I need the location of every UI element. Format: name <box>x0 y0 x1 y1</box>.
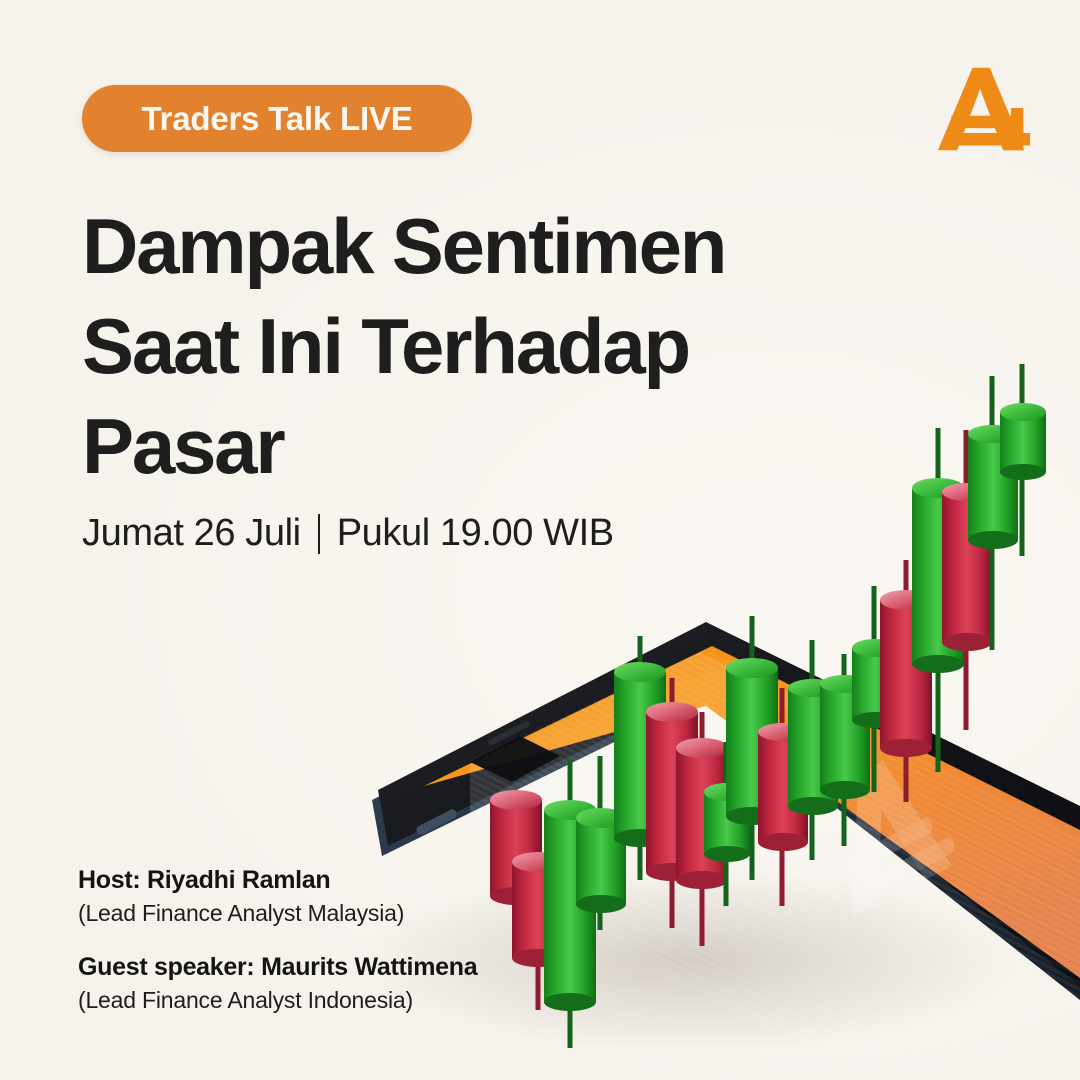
promo-poster: Traders Talk LIVE Dampak Sentimen Saat I… <box>0 0 1080 1080</box>
candle-5-up <box>614 636 666 880</box>
candle-13-up <box>852 586 898 792</box>
schedule-separator <box>318 514 320 554</box>
live-badge-label: Traders Talk LIVE <box>141 100 412 138</box>
headline-line-1: Dampak Sentimen <box>82 196 842 296</box>
credit-host-name: Host: Riyadhi Ramlan <box>78 866 477 895</box>
credit-host: Host: Riyadhi Ramlan (Lead Finance Analy… <box>78 866 477 927</box>
phone-bezel <box>378 622 1080 986</box>
alpha-a-logo-icon <box>936 62 1032 156</box>
schedule-time: Pukul 19.00 WIB <box>337 512 614 555</box>
candle-8-up <box>704 742 750 906</box>
candle-6-down <box>646 678 698 928</box>
headline-line-3: Pasar <box>82 396 842 496</box>
phone-earpiece <box>487 720 531 746</box>
candle-2-down <box>512 846 564 1010</box>
credit-guest-name: Guest speaker: Maurits Wattimena <box>78 953 477 982</box>
schedule-line: Jumat 26 Juli Pukul 19.00 WIB <box>82 512 614 555</box>
phone-screen <box>424 646 1080 978</box>
page-title: Dampak Sentimen Saat Ini Terhadap Pasar <box>82 196 842 496</box>
candle-3-up <box>544 760 596 1048</box>
credit-guest-role: (Lead Finance Analyst Indonesia) <box>78 987 477 1014</box>
candle-10-down <box>758 688 808 906</box>
candle-11-up <box>788 640 838 860</box>
candle-14-down <box>880 560 932 802</box>
candle-16-down <box>942 430 992 730</box>
headline-line-2: Saat Ini Terhadap <box>82 296 842 396</box>
candle-1-down <box>490 790 542 960</box>
candle-17-up <box>968 376 1018 650</box>
phone-side-button <box>415 808 458 836</box>
candle-15-up <box>912 428 964 772</box>
candle-9-up <box>726 616 778 880</box>
phone-device <box>372 600 1080 1080</box>
screen-watermark-icon <box>821 738 959 917</box>
credit-host-role: (Lead Finance Analyst Malaysia) <box>78 900 477 927</box>
credit-guest: Guest speaker: Maurits Wattimena (Lead F… <box>78 953 477 1014</box>
candle-12-up <box>820 654 870 846</box>
candle-7-down <box>676 712 728 946</box>
phone-notch <box>470 736 560 782</box>
candle-4-up <box>576 756 626 930</box>
live-badge: Traders Talk LIVE <box>82 85 472 152</box>
candle-18-up <box>1000 364 1046 556</box>
schedule-date: Jumat 26 Juli <box>82 512 301 555</box>
credits-block: Host: Riyadhi Ramlan (Lead Finance Analy… <box>78 866 477 1040</box>
phone-side-rail <box>372 632 1080 1000</box>
